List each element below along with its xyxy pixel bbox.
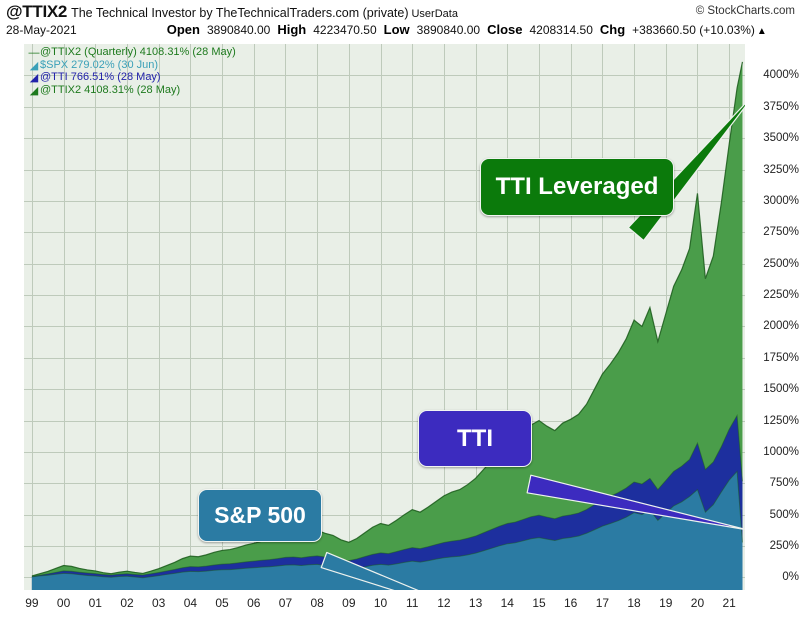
y-axis: 0%250%500%750%1000%1250%1500%1750%2000%2… <box>748 44 801 590</box>
y-axis-tick: 750% <box>770 477 799 489</box>
x-axis-tick: 15 <box>532 596 545 610</box>
y-axis-tick: 1000% <box>763 446 799 458</box>
legend-row: ◢@TTIX2 4108.31% (28 May) <box>28 84 236 97</box>
legend-label: @TTI 766.51% (28 May) <box>40 71 161 83</box>
y-axis-tick: 1250% <box>763 415 799 427</box>
legend-row: ◢$SPX 279.02% (30 Jun) <box>28 59 236 72</box>
y-axis-tick: 250% <box>770 540 799 552</box>
high-value: 4223470.50 <box>313 23 376 37</box>
quote-date: 28-May-2021 <box>6 23 77 37</box>
userdata-tag: UserData <box>411 8 457 20</box>
callout-label: S&P 500 <box>214 504 306 527</box>
callout-label: TTI Leveraged <box>496 175 659 199</box>
chart-plot-area[interactable] <box>24 44 745 590</box>
y-axis-tick: 3250% <box>763 164 799 176</box>
y-axis-tick: 1500% <box>763 383 799 395</box>
y-axis-tick: 2250% <box>763 289 799 301</box>
chg-label: Chg <box>600 22 625 37</box>
x-axis-tick: 14 <box>501 596 514 610</box>
y-axis-tick: 3000% <box>763 195 799 207</box>
high-label: High <box>277 22 306 37</box>
x-axis-tick: 06 <box>247 596 260 610</box>
x-axis-tick: 02 <box>120 596 133 610</box>
x-axis-tick: 11 <box>406 596 418 610</box>
y-axis-tick: 2500% <box>763 258 799 270</box>
close-value: 4208314.50 <box>529 23 592 37</box>
callout-tti-leveraged: TTI Leveraged <box>480 158 674 216</box>
x-axis-tick: 19 <box>659 596 672 610</box>
chart-legend: —@TTIX2 (Quarterly) 4108.31% (28 May)◢$S… <box>28 46 236 96</box>
legend-label: @TTIX2 (Quarterly) 4108.31% (28 May) <box>40 46 236 58</box>
header-quote-row: 28-May-2021Open3890840.00High4223470.50L… <box>6 22 767 37</box>
y-axis-tick: 3500% <box>763 132 799 144</box>
y-axis-tick: 1750% <box>763 352 799 364</box>
callout-s-p-500: S&P 500 <box>198 489 322 542</box>
symbol-description: The Technical Investor by TheTechnicalTr… <box>71 6 408 20</box>
x-axis-tick: 99 <box>25 596 38 610</box>
x-axis-tick: 08 <box>310 596 323 610</box>
low-label: Low <box>384 22 410 37</box>
chart-svg <box>24 44 745 590</box>
x-axis-tick: 20 <box>691 596 704 610</box>
stockcharts-watermark: © StockCharts.com <box>696 5 795 17</box>
x-axis-tick: 09 <box>342 596 355 610</box>
header-title-row: @TTIX2The Technical Investor by TheTechn… <box>6 2 458 22</box>
close-label: Close <box>487 22 522 37</box>
x-axis-tick: 13 <box>469 596 482 610</box>
x-axis-tick: 10 <box>374 596 387 610</box>
y-axis-tick: 500% <box>770 509 799 521</box>
x-axis-tick: 17 <box>596 596 609 610</box>
y-axis-tick: 2750% <box>763 226 799 238</box>
open-label: Open <box>167 22 200 37</box>
x-axis-tick: 18 <box>627 596 640 610</box>
legend-label: @TTIX2 4108.31% (28 May) <box>40 84 180 96</box>
legend-label: $SPX 279.02% (30 Jun) <box>40 59 158 71</box>
x-axis-tick: 01 <box>89 596 102 610</box>
x-axis-tick: 05 <box>215 596 228 610</box>
x-axis-tick: 21 <box>722 596 735 610</box>
stockcharts-screenshot: @TTIX2The Technical Investor by TheTechn… <box>0 0 801 621</box>
x-axis-tick: 12 <box>437 596 450 610</box>
x-axis-tick: 03 <box>152 596 165 610</box>
legend-swatch-icon: ◢ <box>28 85 40 98</box>
legend-swatch-icon: — <box>28 47 40 60</box>
callout-label: TTI <box>457 427 493 451</box>
x-axis-tick: 04 <box>184 596 197 610</box>
open-value: 3890840.00 <box>207 23 270 37</box>
x-axis-tick: 07 <box>279 596 292 610</box>
symbol-ticker[interactable]: @TTIX2 <box>6 2 67 21</box>
y-axis-tick: 0% <box>782 571 799 583</box>
y-axis-tick: 2000% <box>763 320 799 332</box>
low-value: 3890840.00 <box>417 23 480 37</box>
chart-header: @TTIX2The Technical Investor by TheTechn… <box>0 0 801 40</box>
x-axis-tick: 00 <box>57 596 70 610</box>
legend-row: ◢@TTI 766.51% (28 May) <box>28 71 236 84</box>
x-axis-tick: 16 <box>564 596 577 610</box>
legend-row: —@TTIX2 (Quarterly) 4108.31% (28 May) <box>28 46 236 59</box>
x-axis: 9900010203040506070809101112131415161718… <box>24 592 745 620</box>
y-axis-tick: 4000% <box>763 69 799 81</box>
y-axis-tick: 3750% <box>763 101 799 113</box>
chg-up-arrow-icon: ▲ <box>757 26 767 37</box>
chg-value: +383660.50 (+10.03%) <box>632 23 755 37</box>
legend-swatch-icon: ◢ <box>28 72 40 85</box>
callout-tti: TTI <box>418 410 532 467</box>
